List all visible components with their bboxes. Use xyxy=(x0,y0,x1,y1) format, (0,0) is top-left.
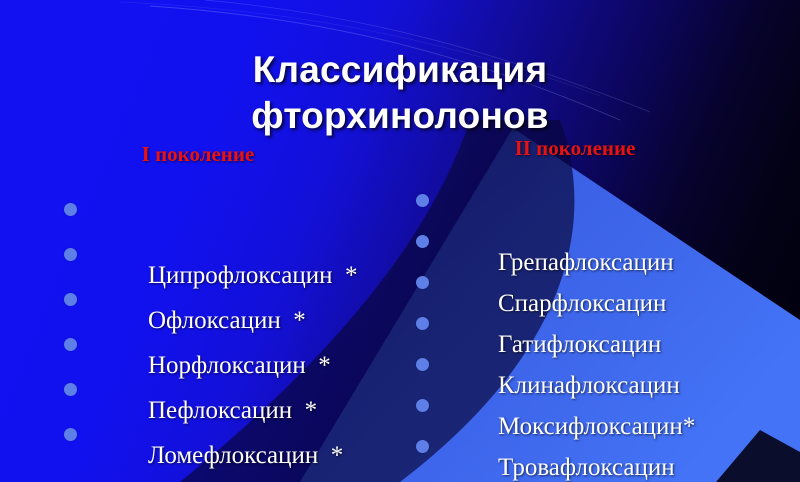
slide-title: Классификация фторхинолонов xyxy=(0,47,800,139)
list-item: Ципрофлоксацин * xyxy=(40,193,410,238)
list-item: Тровафлоксацин xyxy=(402,390,792,431)
list-item: Флероксацин xyxy=(40,418,410,463)
bullet-icon xyxy=(64,383,77,396)
bullet-icon xyxy=(64,338,77,351)
list-item: Пефлоксацин * xyxy=(40,328,410,373)
drug-list-generation-2: Грепафлоксацин Спарфлоксацин Гатифлоксац… xyxy=(402,185,792,472)
bullet-icon xyxy=(416,399,429,412)
list-item: Спарфлоксацин xyxy=(402,226,792,267)
bullet-icon xyxy=(64,203,77,216)
generation-column-1: I поколение Ципрофлоксацин * Офлоксацин … xyxy=(40,142,410,463)
bullet-icon xyxy=(416,194,429,207)
generation-column-2: II поколение Грепафлоксацин Спарфлоксаци… xyxy=(402,136,792,472)
list-item: Моксифлоксацин* xyxy=(402,349,792,390)
bullet-icon xyxy=(416,235,429,248)
bullet-icon xyxy=(416,317,429,330)
list-item: Норфлоксацин * xyxy=(40,283,410,328)
bullet-icon xyxy=(64,248,77,261)
column-heading-generation-2: II поколение xyxy=(402,136,792,161)
list-item: Левофлоксацин * xyxy=(402,431,792,472)
list-item: Гатифлоксацин xyxy=(402,267,792,308)
drug-list-generation-1: Ципрофлоксацин * Офлоксацин * Норфлоксац… xyxy=(40,193,410,463)
bullet-icon xyxy=(64,293,77,306)
list-item: Ломефлоксацин * xyxy=(40,373,410,418)
column-heading-generation-1: I поколение xyxy=(40,142,410,167)
list-item: Клинафлоксацин xyxy=(402,308,792,349)
bullet-icon xyxy=(416,276,429,289)
list-item: Грепафлоксацин xyxy=(402,185,792,226)
presentation-slide: Классификация фторхинолонов I поколение … xyxy=(0,0,800,482)
list-item: Офлоксацин * xyxy=(40,238,410,283)
bullet-icon xyxy=(64,428,77,441)
bullet-icon xyxy=(416,440,429,453)
bullet-icon xyxy=(416,358,429,371)
